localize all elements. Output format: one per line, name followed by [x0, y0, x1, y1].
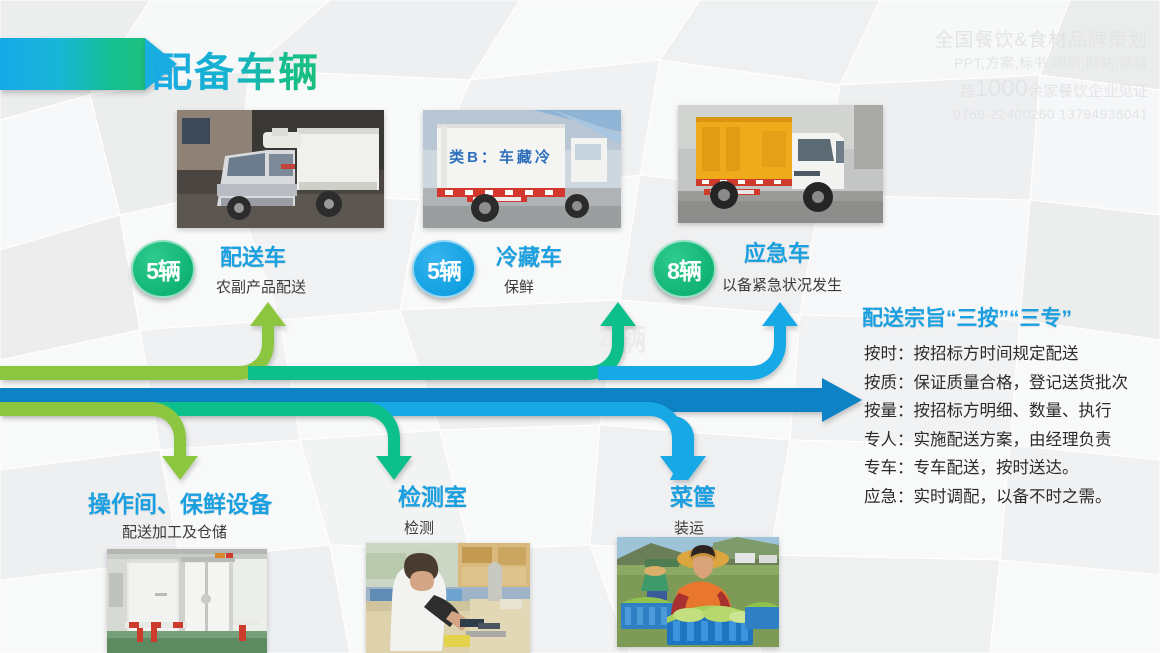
facility-sub-inspection-room: 检测 [404, 517, 434, 538]
photo-emergency-truck [678, 105, 883, 223]
photo-delivery-truck [177, 110, 384, 228]
svg-text:类B：车藏冷: 类B：车藏冷 [449, 148, 553, 166]
facility-title-operation-room: 操作间、保鲜设备 [88, 485, 272, 519]
watermark-line-3-prefix: 超 [960, 83, 975, 100]
purpose-item: 专车：专车配送，按时送达。 [864, 454, 1128, 483]
title-banner-bar [0, 38, 145, 90]
photo-inspection-lab [366, 543, 530, 653]
watermark-line-3-number: 1000 [975, 75, 1028, 102]
purpose-item: 按质：保证质量合格，登记送货批次 [864, 369, 1128, 398]
facility-title-inspection-room: 检测室 [398, 478, 467, 512]
photo-refrigerated-truck: 类B：车藏冷 [423, 110, 621, 228]
photo-cold-storage-room [107, 549, 267, 653]
photo-vegetable-crates [617, 537, 779, 647]
facility-sub-vegetable-crate: 装运 [674, 517, 704, 538]
purpose-list: 按时：按招标方时间规定配送 按质：保证质量合格，登记送货批次 按量：按招标方明细… [864, 340, 1128, 511]
vehicle-title-delivery: 配送车 [220, 240, 286, 272]
facility-sub-operation-room: 配送加工及仓储 [122, 521, 227, 542]
vehicle-title-refrigerated: 冷藏车 [496, 240, 562, 272]
watermark-line-4: 0769-22400260 13794936041 [934, 105, 1148, 124]
purpose-title: 配送宗旨“三按”“三专” [862, 302, 1072, 332]
page-title: 配备车辆 [152, 40, 320, 98]
purpose-item: 专人：实施配送方案，由经理负责 [864, 426, 1128, 455]
watermark-line-3: 超1000余家餐饮企业见证 [934, 73, 1148, 105]
watermark-line-3-suffix: 余家餐饮企业见证 [1028, 83, 1148, 100]
vehicle-title-emergency: 应急车 [744, 236, 810, 268]
watermark-line-2: PPT,方案,标书,印刷,网站,商城 [934, 54, 1148, 73]
watermark-line-1: 全国餐饮&食材品牌策划 [934, 28, 1148, 54]
facility-title-vegetable-crate: 菜筐 [670, 478, 716, 512]
purpose-item: 按量：按招标方明细、数量、执行 [864, 397, 1128, 426]
purpose-item: 应急：实时调配，以备不时之需。 [864, 483, 1128, 512]
watermark: 全国餐饮&食材品牌策划 PPT,方案,标书,印刷,网站,商城 超1000余家餐饮… [934, 28, 1148, 124]
purpose-item: 按时：按招标方时间规定配送 [864, 340, 1128, 369]
slide-canvas: 配备车辆 全国餐饮&食材品牌策划 PPT,方案,标书,印刷,网站,商城 超100… [0, 0, 1160, 653]
